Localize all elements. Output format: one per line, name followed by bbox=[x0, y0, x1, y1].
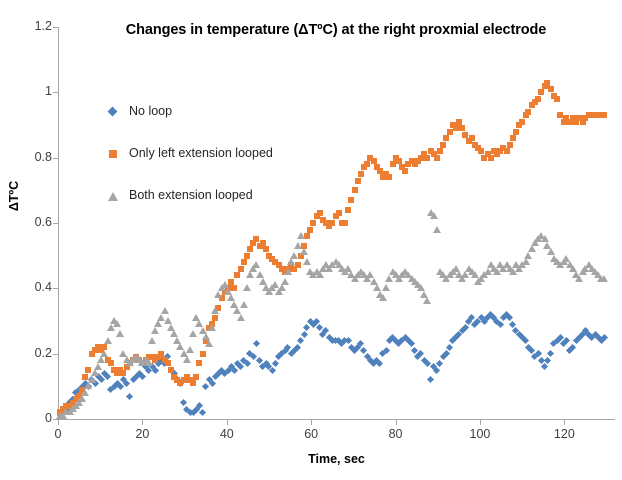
triangle-marker-icon bbox=[252, 261, 260, 268]
y-axis-tick-label: 0 bbox=[18, 412, 52, 424]
chart-legend: No loop Only left extension looped Both … bbox=[108, 104, 358, 230]
square-marker-icon bbox=[190, 380, 196, 386]
triangle-marker-icon bbox=[600, 275, 608, 282]
square-marker-icon bbox=[447, 129, 453, 135]
triangle-marker-icon bbox=[281, 278, 289, 285]
square-marker-icon bbox=[459, 125, 465, 131]
square-marker-icon bbox=[440, 142, 446, 148]
triangle-marker-icon bbox=[91, 369, 99, 376]
square-marker-icon bbox=[238, 266, 244, 272]
square-marker-icon bbox=[196, 360, 202, 366]
triangle-marker-icon bbox=[433, 226, 441, 233]
triangle-marker-icon bbox=[379, 294, 387, 301]
triangle-marker-icon bbox=[316, 271, 324, 278]
diamond-marker-icon bbox=[433, 366, 440, 373]
square-marker-icon bbox=[364, 161, 370, 167]
square-marker-icon bbox=[212, 315, 218, 321]
diamond-marker-icon bbox=[202, 383, 209, 390]
square-marker-icon bbox=[377, 168, 383, 174]
triangle-marker-icon bbox=[78, 395, 86, 402]
triangle-marker-icon bbox=[161, 307, 169, 314]
diamond-marker-icon bbox=[547, 350, 554, 357]
square-marker-icon bbox=[193, 374, 199, 380]
diamond-marker-icon bbox=[108, 107, 118, 117]
square-marker-icon bbox=[304, 233, 310, 239]
diamond-marker-icon bbox=[297, 337, 304, 344]
square-marker-icon bbox=[168, 367, 174, 373]
square-marker-icon bbox=[538, 89, 544, 95]
triangle-marker-icon bbox=[208, 324, 216, 331]
triangle-marker-icon bbox=[113, 320, 121, 327]
diamond-marker-icon bbox=[303, 324, 310, 331]
triangle-marker-icon bbox=[94, 363, 102, 370]
square-marker-icon bbox=[507, 142, 513, 148]
triangle-marker-icon bbox=[148, 337, 156, 344]
y-axis-tick-label: 0.4 bbox=[18, 281, 52, 293]
x-axis-tick bbox=[58, 420, 59, 425]
triangle-marker-icon bbox=[151, 327, 159, 334]
diamond-marker-icon bbox=[427, 376, 434, 383]
diamond-marker-icon bbox=[294, 344, 301, 351]
triangle-marker-icon bbox=[300, 248, 308, 255]
legend-item-label: Only left extension looped bbox=[129, 146, 273, 160]
square-marker-icon bbox=[504, 148, 510, 154]
diamond-marker-icon bbox=[376, 360, 383, 367]
triangle-marker-icon bbox=[237, 314, 245, 321]
triangle-marker-icon bbox=[524, 252, 532, 259]
square-marker-icon bbox=[260, 240, 266, 246]
y-axis-tick-label: 0.2 bbox=[18, 347, 52, 359]
square-marker-icon bbox=[548, 86, 554, 92]
x-axis-tick-label: 40 bbox=[207, 427, 247, 441]
square-marker-icon bbox=[462, 132, 468, 138]
x-axis-tick bbox=[142, 420, 143, 425]
square-marker-icon bbox=[358, 171, 364, 177]
square-marker-icon bbox=[108, 360, 114, 366]
triangle-marker-icon bbox=[186, 346, 194, 353]
legend-item-label: Both extension looped bbox=[129, 188, 253, 202]
diamond-marker-icon bbox=[300, 331, 307, 338]
y-axis-tick-label: 1.2 bbox=[18, 20, 52, 32]
triangle-marker-icon bbox=[528, 245, 536, 252]
y-axis-tick-label: 1 bbox=[18, 85, 52, 97]
triangle-marker-icon bbox=[278, 284, 286, 291]
triangle-marker-icon bbox=[423, 297, 431, 304]
square-marker-icon bbox=[510, 135, 516, 141]
square-marker-icon bbox=[535, 96, 541, 102]
triangle-marker-icon bbox=[100, 350, 108, 357]
square-marker-icon bbox=[525, 109, 531, 115]
square-marker-icon bbox=[601, 112, 607, 118]
square-marker-icon bbox=[228, 279, 234, 285]
square-marker-icon bbox=[241, 259, 247, 265]
triangle-marker-icon bbox=[189, 330, 197, 337]
legend-item-both-extension-looped[interactable]: Both extension looped bbox=[108, 188, 358, 230]
square-marker-icon bbox=[120, 370, 126, 376]
square-marker-icon bbox=[109, 150, 117, 158]
triangle-marker-icon bbox=[108, 192, 118, 201]
triangle-marker-icon bbox=[243, 284, 251, 291]
square-marker-icon bbox=[200, 351, 206, 357]
diamond-marker-icon bbox=[497, 321, 504, 328]
square-marker-icon bbox=[513, 129, 519, 135]
triangle-marker-icon bbox=[287, 258, 295, 265]
legend-item-only-left-extension-looped[interactable]: Only left extension looped bbox=[108, 146, 358, 188]
triangle-marker-icon bbox=[382, 284, 390, 291]
diamond-marker-icon bbox=[123, 380, 130, 387]
triangle-marker-icon bbox=[430, 212, 438, 219]
x-axis-tick-label: 120 bbox=[544, 427, 584, 441]
y-axis-tick-label: 0.6 bbox=[18, 216, 52, 228]
x-axis-tick-label: 0 bbox=[38, 427, 78, 441]
triangle-marker-icon bbox=[84, 382, 92, 389]
square-marker-icon bbox=[424, 155, 430, 161]
triangle-marker-icon bbox=[97, 356, 105, 363]
square-marker-icon bbox=[544, 80, 550, 86]
triangle-marker-icon bbox=[303, 258, 311, 265]
triangle-marker-icon bbox=[284, 268, 292, 275]
x-axis-tick bbox=[480, 420, 481, 425]
triangle-marker-icon bbox=[183, 356, 191, 363]
triangle-marker-icon bbox=[81, 389, 89, 396]
square-marker-icon bbox=[519, 119, 525, 125]
triangle-marker-icon bbox=[145, 359, 153, 366]
square-marker-icon bbox=[456, 119, 462, 125]
triangle-marker-icon bbox=[240, 301, 248, 308]
square-marker-icon bbox=[437, 148, 443, 154]
square-marker-icon bbox=[396, 158, 402, 164]
legend-item-no-loop[interactable]: No loop bbox=[108, 104, 358, 146]
diamond-marker-icon bbox=[139, 373, 146, 380]
x-axis-tick bbox=[564, 420, 565, 425]
y-axis-tick-labels: 00.20.40.60.811.2 bbox=[12, 0, 52, 480]
square-marker-icon bbox=[434, 155, 440, 161]
x-axis-tick-label: 20 bbox=[122, 427, 162, 441]
square-marker-icon bbox=[402, 168, 408, 174]
diamond-marker-icon bbox=[436, 360, 443, 367]
diamond-marker-icon bbox=[199, 409, 206, 416]
diamond-marker-icon bbox=[126, 393, 133, 400]
triangle-marker-icon bbox=[297, 232, 305, 239]
triangle-marker-icon bbox=[205, 340, 213, 347]
diamond-marker-icon bbox=[569, 344, 576, 351]
square-marker-icon bbox=[488, 155, 494, 161]
diamond-marker-icon bbox=[253, 340, 260, 347]
square-marker-icon bbox=[244, 253, 250, 259]
legend-item-label: No loop bbox=[129, 104, 172, 118]
triangle-marker-icon bbox=[211, 307, 219, 314]
triangle-marker-icon bbox=[88, 376, 96, 383]
square-marker-icon bbox=[165, 360, 171, 366]
square-marker-icon bbox=[557, 112, 563, 118]
triangle-marker-icon bbox=[575, 275, 583, 282]
square-marker-icon bbox=[263, 246, 269, 252]
x-axis-tick-label: 100 bbox=[460, 427, 500, 441]
square-marker-icon bbox=[390, 161, 396, 167]
square-marker-icon bbox=[554, 96, 560, 102]
square-marker-icon bbox=[371, 158, 377, 164]
square-marker-icon bbox=[234, 272, 240, 278]
triangle-marker-icon bbox=[214, 291, 222, 298]
x-axis-tick-label: 60 bbox=[291, 427, 331, 441]
x-axis-tick bbox=[311, 420, 312, 425]
diamond-marker-icon bbox=[243, 360, 250, 367]
y-axis-tick-label: 0.8 bbox=[18, 151, 52, 163]
square-marker-icon bbox=[295, 262, 301, 268]
triangle-marker-icon bbox=[522, 258, 530, 265]
x-axis-tick-label: 80 bbox=[376, 427, 416, 441]
x-axis-title: Time, sec bbox=[58, 452, 615, 466]
square-marker-icon bbox=[386, 174, 392, 180]
square-marker-icon bbox=[469, 135, 475, 141]
triangle-marker-icon bbox=[290, 252, 298, 259]
square-marker-icon bbox=[478, 148, 484, 154]
square-marker-icon bbox=[158, 351, 164, 357]
triangle-marker-icon bbox=[104, 337, 112, 344]
diamond-marker-icon bbox=[272, 360, 279, 367]
x-axis-tick bbox=[396, 420, 397, 425]
scatter-chart: Changes in temperature (ΔTºC) at the rig… bbox=[0, 0, 622, 480]
y-axis-title: ΔTºC bbox=[7, 181, 21, 211]
square-marker-icon bbox=[443, 135, 449, 141]
diamond-marker-icon bbox=[446, 344, 453, 351]
square-marker-icon bbox=[247, 246, 253, 252]
square-marker-icon bbox=[453, 125, 459, 131]
square-marker-icon bbox=[253, 236, 259, 242]
triangle-marker-icon bbox=[246, 271, 254, 278]
triangle-marker-icon bbox=[116, 330, 124, 337]
x-axis-tick bbox=[227, 420, 228, 425]
square-marker-icon bbox=[231, 285, 237, 291]
triangle-marker-icon bbox=[154, 320, 162, 327]
